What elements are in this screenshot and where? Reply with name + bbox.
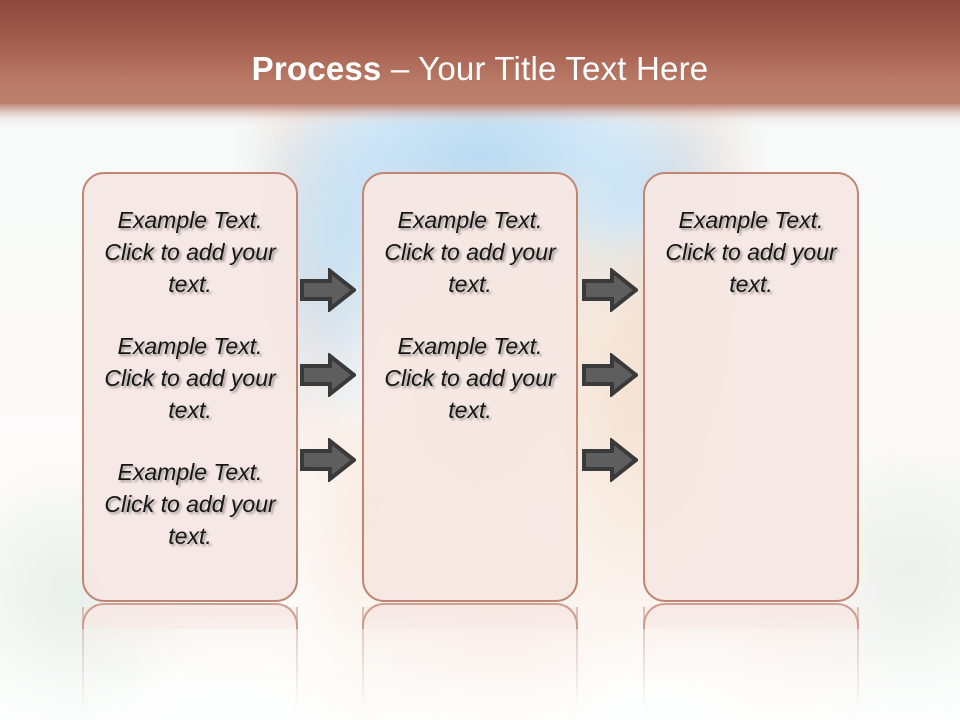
- page-title-bold: Process: [252, 50, 382, 87]
- arrow-right-2[interactable]: [300, 353, 356, 397]
- process-box-2-paragraph-2[interactable]: Example Text. Click to add your text.: [374, 330, 566, 426]
- arrow-right-6[interactable]: [582, 438, 638, 482]
- process-box-3-content: Example Text. Click to add your text.: [655, 204, 847, 300]
- process-box-2[interactable]: Example Text. Click to add your text. Ex…: [362, 172, 578, 602]
- arrow-right-5[interactable]: [582, 353, 638, 397]
- process-box-1-content: Example Text. Click to add your text. Ex…: [94, 204, 286, 552]
- process-box-2-content: Example Text. Click to add your text. Ex…: [374, 204, 566, 426]
- presentation-slide: Process – Your Title Text Here Example T…: [0, 0, 960, 720]
- arrow-right-3[interactable]: [300, 438, 356, 482]
- process-box-1[interactable]: Example Text. Click to add your text. Ex…: [82, 172, 298, 602]
- process-box-3-reflection-lip: [643, 603, 859, 629]
- title-banner-fade: [0, 104, 960, 126]
- process-box-1-paragraph-1[interactable]: Example Text. Click to add your text.: [94, 204, 286, 300]
- process-box-1-reflection-lip: [82, 603, 298, 629]
- process-box-2-paragraph-1[interactable]: Example Text. Click to add your text.: [374, 204, 566, 300]
- page-title: Process – Your Title Text Here: [0, 50, 960, 88]
- process-box-1-paragraph-3[interactable]: Example Text. Click to add your text.: [94, 456, 286, 552]
- process-box-2-reflection-lip: [362, 603, 578, 629]
- process-box-3-paragraph-1[interactable]: Example Text. Click to add your text.: [655, 204, 847, 300]
- process-box-3[interactable]: Example Text. Click to add your text.: [643, 172, 859, 602]
- page-title-rest: – Your Title Text Here: [381, 50, 708, 87]
- arrow-right-1[interactable]: [300, 268, 356, 312]
- process-box-1-paragraph-2[interactable]: Example Text. Click to add your text.: [94, 330, 286, 426]
- arrow-right-4[interactable]: [582, 268, 638, 312]
